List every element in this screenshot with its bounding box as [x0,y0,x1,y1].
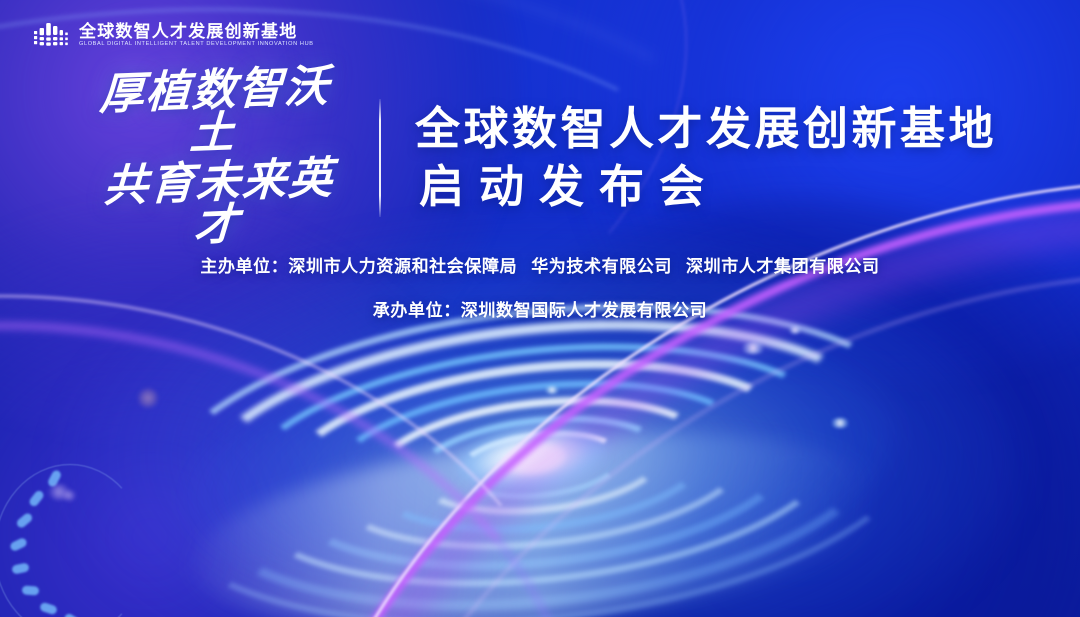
headline-block: 厚植数智沃土 共育未来英才 全球数智人才发展创新基地 启动发布会 [0,88,1080,228]
vertical-divider [379,99,381,217]
organizer-name: 深圳市人才集团有限公司 [686,257,880,276]
logo-subtitle-en: GLOBAL DIGITAL INTELLIGENT TALENT DEVELO… [79,42,314,48]
calligraphy-slogan: 厚植数智沃土 共育未来英才 [83,69,345,247]
organizer-name: 华为技术有限公司 [531,257,672,276]
organizer-line-coorganizer: 承办单位：深圳数智国际人才发展有限公司 [0,296,1080,321]
logo-text-block: 全球数智人才发展创新基地 GLOBAL DIGITAL INTELLIGENT … [79,23,314,48]
organizer-name: 深圳数智国际人才发展有限公司 [461,301,707,320]
logo-title-cn: 全球数智人才发展创新基地 [79,23,314,40]
organizer-name: 深圳市人力资源和社会保障局 [288,257,517,276]
calligraphy-line-2: 共育未来英才 [85,156,352,252]
organizer-label: 主办单位： [200,257,288,276]
organizer-label: 承办单位： [373,301,461,320]
bokeh-dot [138,388,158,408]
bar-chart-dotted-logo-icon [34,22,68,48]
bokeh-dot [62,490,76,501]
event-title-line-1: 全球数智人才发展创新基地 [415,105,997,153]
organizer-line-host: 主办单位：深圳市人力资源和社会保障局华为技术有限公司深圳市人才集团有限公司 [0,252,1080,277]
event-banner: 全球数智人才发展创新基地 GLOBAL DIGITAL INTELLIGENT … [0,0,1080,617]
arc-segment [22,585,40,595]
brand-logo[interactable]: 全球数智人才发展创新基地 GLOBAL DIGITAL INTELLIGENT … [34,22,314,48]
event-title-line-2: 启动发布会 [415,163,997,211]
calligraphy-line-1: 厚植数智沃土 [81,64,348,160]
event-title: 全球数智人才发展创新基地 启动发布会 [415,105,997,210]
